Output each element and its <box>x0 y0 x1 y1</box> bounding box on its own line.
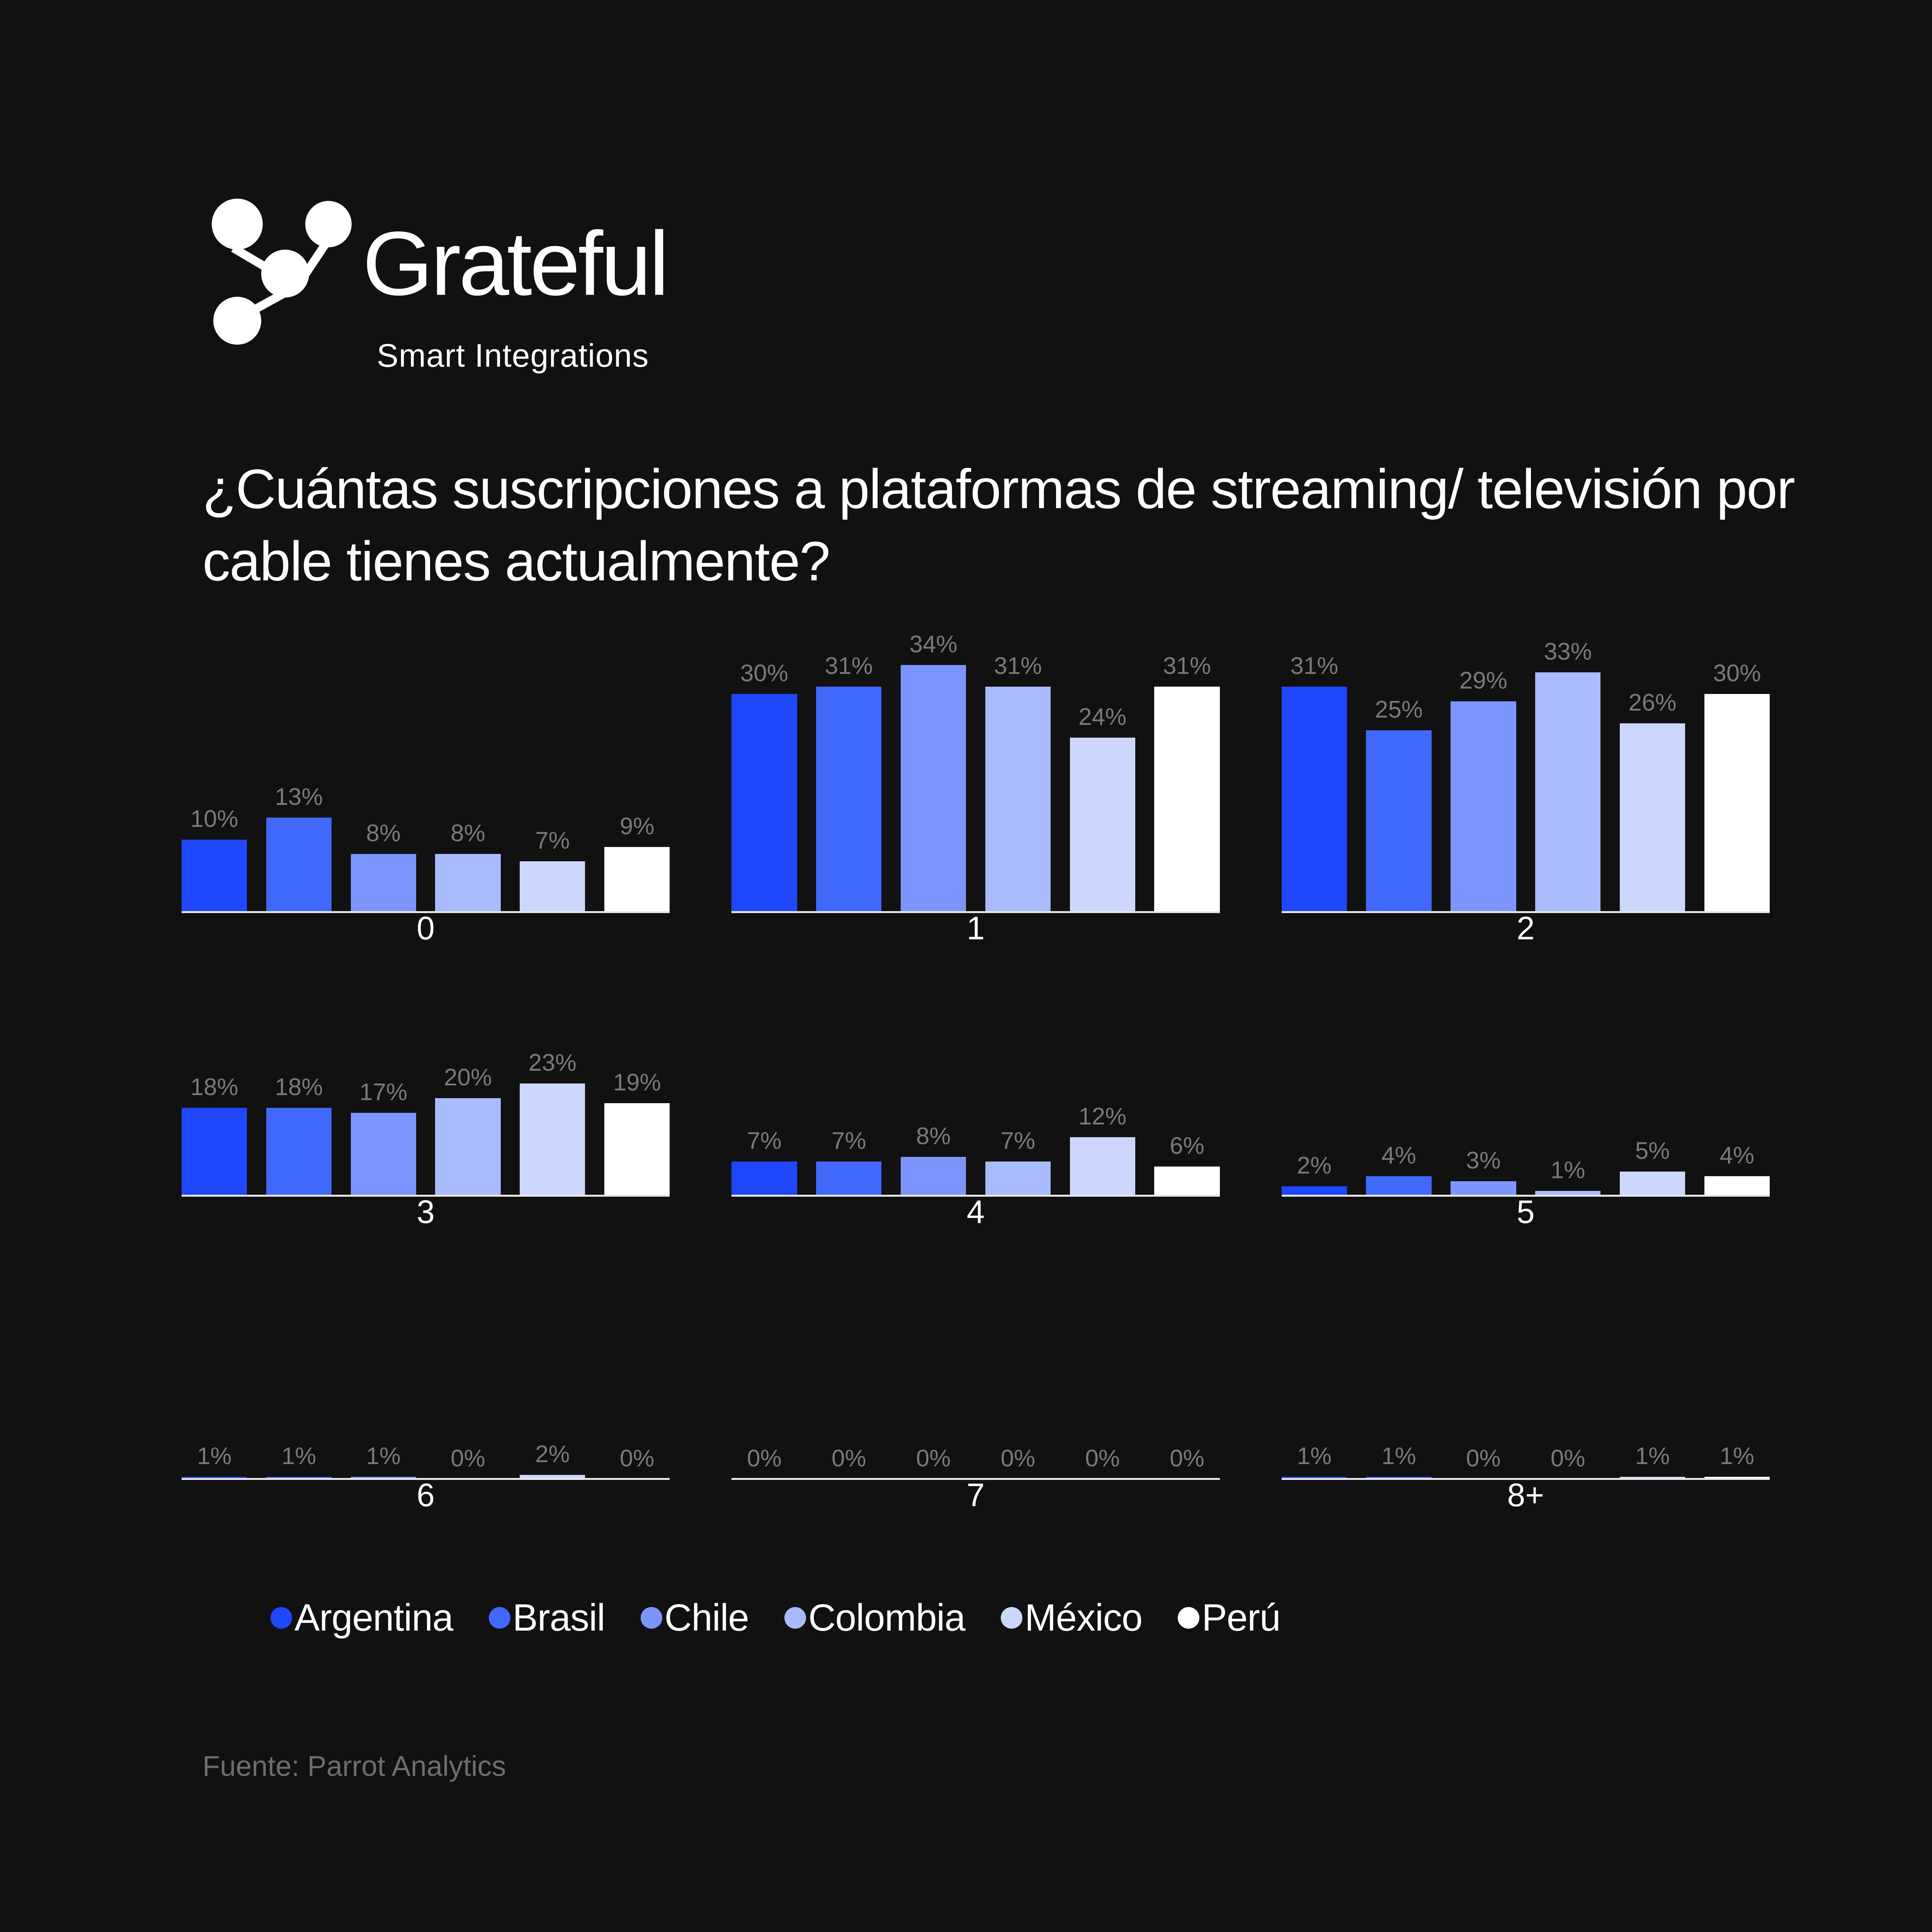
bar-value-label: 17% <box>359 1078 407 1106</box>
bar-méxico[interactable] <box>520 1083 585 1196</box>
bar-value-label: 3% <box>1466 1147 1501 1174</box>
chart-panel-2: 31%25%29%33%26%30%2 <box>1282 657 1770 940</box>
bar-value-label: 0% <box>451 1445 485 1472</box>
bar-group: 5% <box>1620 1030 1685 1196</box>
bar-group: 26% <box>1620 665 1685 912</box>
bar-group: 7% <box>520 665 585 912</box>
bar-value-label: 0% <box>747 1445 782 1472</box>
bar-chile[interactable] <box>901 1157 966 1196</box>
bar-brasil[interactable] <box>266 818 332 912</box>
bar-group: 34% <box>901 665 966 912</box>
bar-group: 0% <box>1535 1406 1600 1479</box>
bar-value-label: 7% <box>1001 1127 1036 1155</box>
bar-group: 31% <box>1282 665 1347 912</box>
bar-group: 10% <box>182 665 247 912</box>
infographic-page: Grateful Smart Integrations ¿Cuántas sus… <box>0 0 1932 1932</box>
bar-group: 1% <box>1366 1406 1431 1479</box>
bar-group: 0% <box>985 1406 1051 1479</box>
bar-value-label: 1% <box>1297 1442 1332 1470</box>
bar-value-label: 1% <box>282 1442 316 1470</box>
bar-value-label: 0% <box>1466 1445 1501 1472</box>
bar-value-label: 7% <box>747 1127 782 1155</box>
bar-group: 6% <box>1154 1030 1219 1196</box>
legend-item-chile[interactable]: Chile <box>641 1596 749 1639</box>
bar-value-label: 26% <box>1629 689 1677 716</box>
bar-value-label: 31% <box>1290 652 1338 680</box>
legend-item-méxico[interactable]: México <box>1001 1596 1142 1639</box>
bar-value-label: 5% <box>1635 1137 1670 1165</box>
bar-group: 1% <box>1282 1406 1347 1479</box>
bar-colombia[interactable] <box>985 1162 1051 1196</box>
bar-group: 3% <box>1451 1030 1516 1196</box>
plot-area: 7%7%8%7%12%6% <box>731 1030 1219 1196</box>
legend-item-argentina[interactable]: Argentina <box>270 1596 453 1639</box>
legend-dot-icon <box>1178 1607 1199 1629</box>
bar-value-label: 30% <box>1713 660 1761 687</box>
bar-value-label: 7% <box>535 827 570 854</box>
bar-group: 0% <box>731 1406 797 1479</box>
bar-chile[interactable] <box>351 1113 416 1196</box>
bar-value-label: 24% <box>1078 703 1126 731</box>
bar-perú[interactable] <box>604 1103 670 1196</box>
bar-chile[interactable] <box>351 854 416 912</box>
bar-value-label: 1% <box>1720 1442 1755 1470</box>
chart-panel-8plus: 1%1%0%0%1%1%8+ <box>1282 1224 1770 1507</box>
bar-group: 12% <box>1070 1030 1135 1196</box>
bar-group: 8% <box>351 665 416 912</box>
bar-value-label: 1% <box>197 1442 232 1470</box>
bar-value-label: 1% <box>1551 1156 1585 1184</box>
plot-area: 1%1%1%0%2%0% <box>182 1406 670 1479</box>
bar-value-label: 34% <box>910 631 957 658</box>
bar-value-label: 0% <box>1085 1445 1120 1472</box>
chart-panel-7: 0%0%0%0%0%0%7 <box>731 1224 1219 1507</box>
bar-value-label: 13% <box>275 783 323 811</box>
bar-value-label: 10% <box>190 805 238 833</box>
bar-chile[interactable] <box>901 665 966 912</box>
bar-value-label: 8% <box>366 820 401 847</box>
network-nodes-icon <box>201 182 355 348</box>
bar-brasil[interactable] <box>816 1162 881 1196</box>
bar-group: 0% <box>1451 1406 1516 1479</box>
bar-brasil[interactable] <box>816 687 881 912</box>
bar-chile[interactable] <box>1451 701 1516 912</box>
bar-group: 7% <box>816 1030 881 1196</box>
bar-brasil[interactable] <box>1366 730 1431 912</box>
page-title: ¿Cuántas suscripciones a plataformas de … <box>202 453 1845 597</box>
legend-dot-icon <box>270 1607 292 1629</box>
bar-méxico[interactable] <box>1620 1172 1685 1196</box>
bar-group: 1% <box>266 1406 332 1479</box>
legend-label: Argentina <box>294 1596 453 1639</box>
bar-value-label: 0% <box>1001 1445 1036 1472</box>
chart-panel-4: 7%7%8%7%12%6%4 <box>731 940 1219 1223</box>
bar-group: 0% <box>901 1406 966 1479</box>
bar-colombia[interactable] <box>985 687 1051 912</box>
plot-area: 2%4%3%1%5%4% <box>1282 1030 1770 1196</box>
bar-perú[interactable] <box>1704 694 1770 912</box>
bar-méxico[interactable] <box>1620 723 1685 912</box>
chart-panel-6: 1%1%1%0%2%0%6 <box>182 1224 670 1507</box>
bar-value-label: 6% <box>1170 1132 1204 1160</box>
bar-value-label: 0% <box>1551 1445 1585 1472</box>
bar-value-label: 31% <box>825 652 873 680</box>
bar-value-label: 8% <box>451 820 485 847</box>
bar-group: 1% <box>1620 1406 1685 1479</box>
bar-value-label: 25% <box>1375 696 1423 723</box>
plot-area: 1%1%0%0%1%1% <box>1282 1406 1770 1479</box>
bar-group: 17% <box>351 1030 416 1196</box>
bar-value-label: 2% <box>1297 1152 1332 1179</box>
bar-group: 25% <box>1366 665 1431 912</box>
bar-value-label: 7% <box>832 1127 866 1155</box>
bar-value-label: 19% <box>613 1069 661 1096</box>
bar-group: 0% <box>1070 1406 1135 1479</box>
bar-perú[interactable] <box>1154 687 1219 912</box>
bar-group: 7% <box>985 1030 1051 1196</box>
bar-group: 1% <box>1704 1406 1770 1479</box>
bar-value-label: 9% <box>620 813 655 840</box>
bar-group: 1% <box>182 1406 247 1479</box>
brand-logo: Grateful Smart Integrations <box>201 182 667 374</box>
bar-group: 18% <box>182 1030 247 1196</box>
source-note: Fuente: Parrot Analytics <box>202 1750 506 1782</box>
bar-value-label: 2% <box>535 1440 570 1468</box>
bar-value-label: 33% <box>1544 638 1592 665</box>
bar-value-label: 18% <box>275 1073 323 1101</box>
bar-group: 24% <box>1070 665 1135 912</box>
legend-dot-icon <box>784 1607 806 1629</box>
bar-argentina[interactable] <box>731 1162 797 1196</box>
bar-colombia[interactable] <box>435 1098 500 1196</box>
bar-group: 20% <box>435 1030 500 1196</box>
bar-méxico[interactable] <box>520 861 585 912</box>
bar-méxico[interactable] <box>1070 738 1135 912</box>
bar-colombia[interactable] <box>1535 672 1600 912</box>
bar-value-label: 18% <box>190 1073 238 1101</box>
bar-group: 4% <box>1366 1030 1431 1196</box>
chart-panel-1: 30%31%34%31%24%31%1 <box>731 657 1219 940</box>
category-label: 7 <box>731 1476 1219 1514</box>
chart-panel-5: 2%4%3%1%5%4%5 <box>1282 940 1770 1223</box>
bar-perú[interactable] <box>604 847 670 912</box>
plot-area: 18%18%17%20%23%19% <box>182 1030 670 1196</box>
legend-item-colombia[interactable]: Colombia <box>784 1596 965 1639</box>
bar-group: 31% <box>985 665 1051 912</box>
bar-group: 8% <box>901 1030 966 1196</box>
plot-area: 0%0%0%0%0%0% <box>731 1406 1219 1479</box>
bar-group: 0% <box>435 1406 500 1479</box>
bar-argentina[interactable] <box>1282 687 1347 912</box>
bar-group: 33% <box>1535 665 1600 912</box>
bar-value-label: 0% <box>832 1445 866 1472</box>
legend-dot-icon <box>1001 1607 1022 1629</box>
bar-argentina[interactable] <box>182 1108 247 1196</box>
bar-value-label: 1% <box>1635 1442 1670 1470</box>
bar-group: 4% <box>1704 1030 1770 1196</box>
bar-group: 8% <box>435 665 500 912</box>
chart-panel-0: 10%13%8%8%7%9%0 <box>182 657 670 940</box>
bar-group: 9% <box>604 665 670 912</box>
bar-value-label: 30% <box>740 660 788 687</box>
bar-group: 0% <box>604 1406 670 1479</box>
bar-group: 2% <box>520 1406 585 1479</box>
bar-value-label: 4% <box>1381 1142 1416 1169</box>
legend-item-brasil[interactable]: Brasil <box>489 1596 605 1639</box>
bar-group: 30% <box>1704 665 1770 912</box>
bar-group: 30% <box>731 665 797 912</box>
bar-perú[interactable] <box>1154 1167 1219 1196</box>
bar-value-label: 0% <box>620 1445 655 1472</box>
bar-value-label: 20% <box>444 1064 492 1091</box>
legend-label: Brasil <box>513 1596 605 1639</box>
bar-group: 1% <box>1535 1030 1600 1196</box>
bar-group: 23% <box>520 1030 585 1196</box>
bar-group: 19% <box>604 1030 670 1196</box>
legend-item-perú[interactable]: Perú <box>1178 1596 1280 1639</box>
bar-value-label: 23% <box>529 1049 577 1077</box>
category-label: 8+ <box>1282 1476 1770 1514</box>
bar-group: 1% <box>351 1406 416 1479</box>
brand-name: Grateful <box>362 218 667 309</box>
bar-value-label: 31% <box>994 652 1042 680</box>
logo-row: Grateful <box>201 182 667 348</box>
bar-value-label: 8% <box>916 1122 951 1150</box>
bar-group: 18% <box>266 1030 332 1196</box>
brand-tagline: Smart Integrations <box>377 337 667 374</box>
bar-group: 2% <box>1282 1030 1347 1196</box>
bar-group: 0% <box>816 1406 881 1479</box>
bar-argentina[interactable] <box>731 694 797 912</box>
plot-area: 31%25%29%33%26%30% <box>1282 665 1770 912</box>
legend-label: Perú <box>1202 1596 1280 1639</box>
category-label: 6 <box>182 1476 670 1514</box>
bar-group: 31% <box>1154 665 1219 912</box>
bar-brasil[interactable] <box>266 1108 332 1196</box>
bar-argentina[interactable] <box>182 840 247 912</box>
bar-colombia[interactable] <box>435 854 500 912</box>
bar-group: 7% <box>731 1030 797 1196</box>
bar-value-label: 4% <box>1720 1142 1755 1169</box>
legend-label: Colombia <box>808 1596 965 1639</box>
bar-group: 13% <box>266 665 332 912</box>
bar-méxico[interactable] <box>1070 1137 1135 1196</box>
bar-value-label: 0% <box>1170 1445 1204 1472</box>
plot-area: 30%31%34%31%24%31% <box>731 665 1219 912</box>
chart-panel-3: 18%18%17%20%23%19%3 <box>182 940 670 1223</box>
bar-value-label: 1% <box>366 1442 401 1470</box>
bar-group: 29% <box>1451 665 1516 912</box>
bar-value-label: 31% <box>1163 652 1211 680</box>
legend-dot-icon <box>489 1607 510 1629</box>
bar-group: 31% <box>816 665 881 912</box>
legend-dot-icon <box>641 1607 662 1629</box>
bar-group: 0% <box>1154 1406 1219 1479</box>
chart-grid: 10%13%8%8%7%9%030%31%34%31%24%31%131%25%… <box>182 657 1770 1507</box>
legend-label: México <box>1025 1596 1142 1639</box>
bar-value-label: 0% <box>916 1445 951 1472</box>
plot-area: 10%13%8%8%7%9% <box>182 665 670 912</box>
legend-label: Chile <box>665 1596 749 1639</box>
bar-value-label: 29% <box>1459 667 1507 694</box>
bar-value-label: 12% <box>1078 1103 1126 1130</box>
bar-value-label: 1% <box>1381 1442 1416 1470</box>
chart-legend: ArgentinaBrasilChileColombiaMéxicoPerú <box>270 1596 1280 1639</box>
